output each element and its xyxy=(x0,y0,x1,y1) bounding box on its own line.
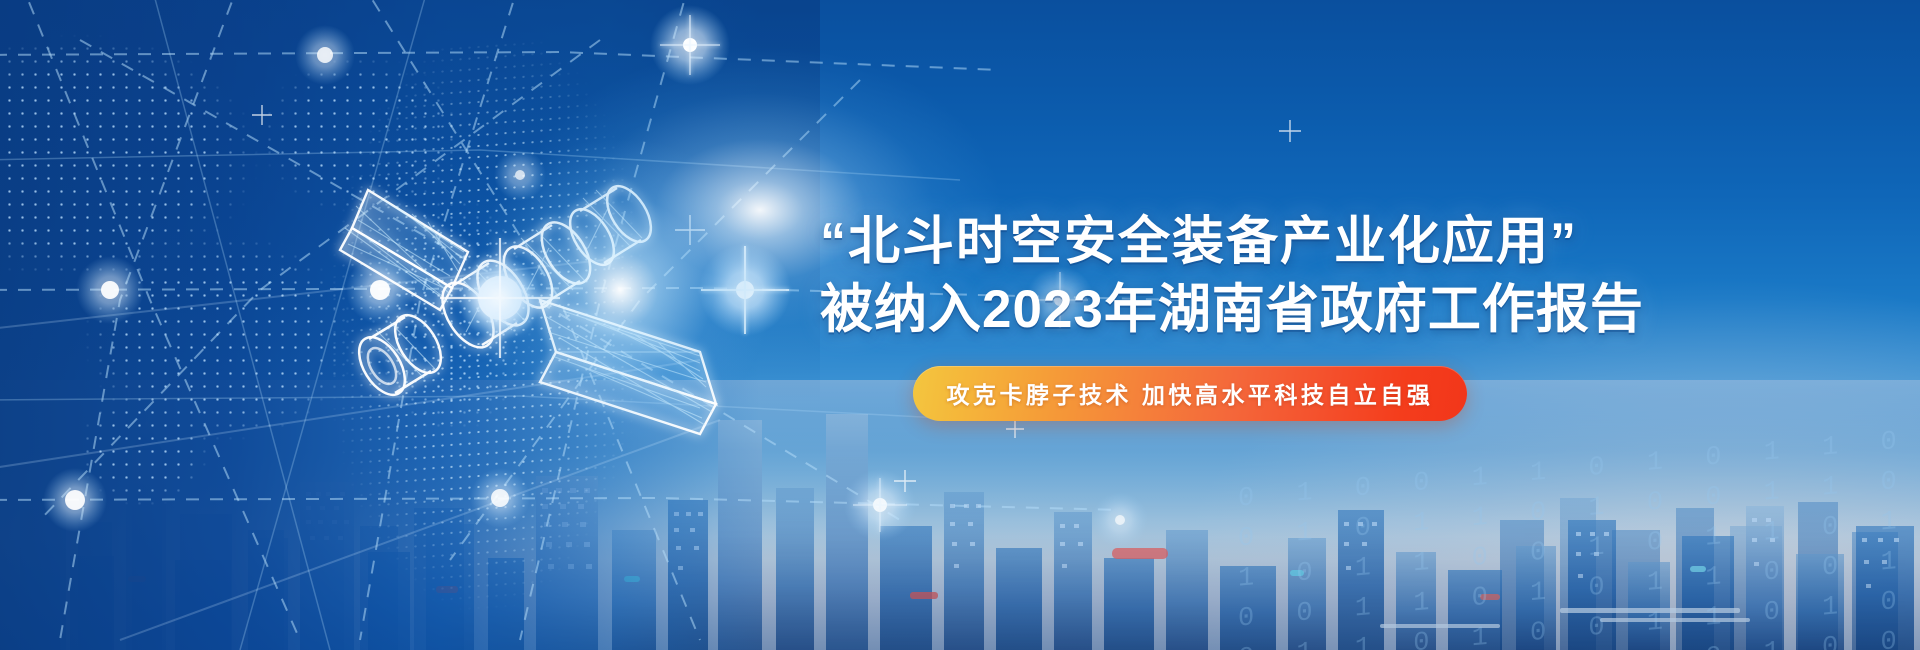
slogan-badge[interactable]: 攻克卡脖子技术 加快高水平科技自立自强 xyxy=(913,366,1468,421)
headline-block: “北斗时空安全装备产业化应用” 被纳入2023年湖南省政府工作报告 攻克卡脖子技… xyxy=(820,212,1560,421)
headline-line-2: 被纳入2023年湖南省政府工作报告 xyxy=(820,279,1560,342)
hero-banner: 0 1 0 0 1 1 0 1 0 1 1 0 0 1 0 1 1 0 1 0 … xyxy=(0,0,1920,650)
headline-line-1: “北斗时空安全装备产业化应用” xyxy=(820,212,1560,273)
